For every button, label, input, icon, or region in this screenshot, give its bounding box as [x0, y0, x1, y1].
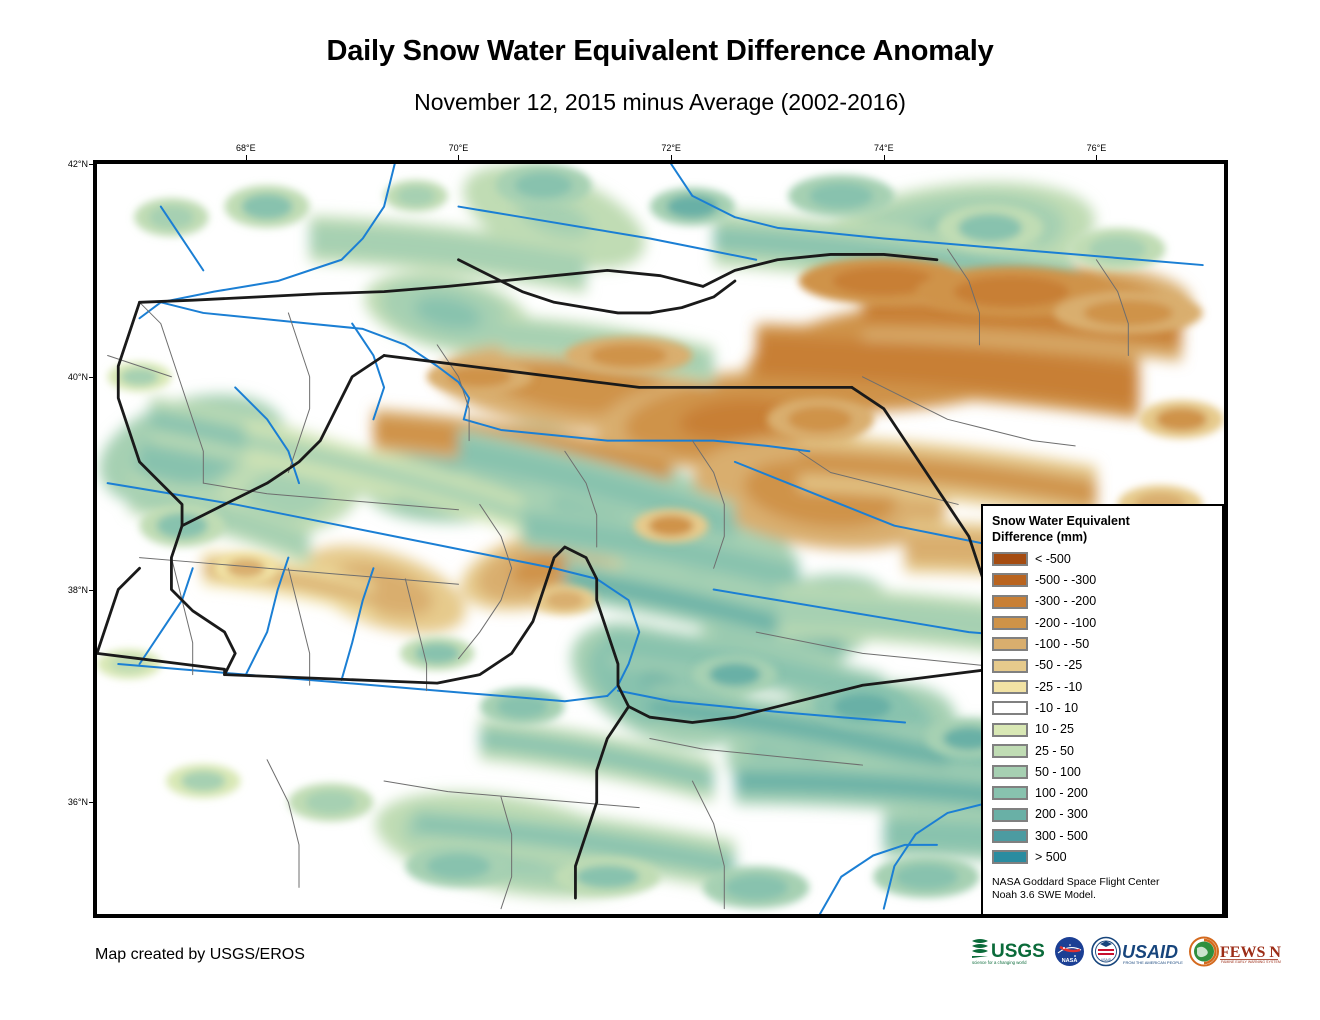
legend-swatch: [992, 637, 1028, 651]
logo-bar: USGS science for a changing world NASA U…: [970, 933, 1281, 969]
usaid-logo: USAID USAID FROM THE AMERICAN PEOPLE: [1091, 935, 1183, 967]
legend-swatch: [992, 616, 1028, 630]
anomaly-patch: [1084, 300, 1173, 326]
legend-label: 10 - 25: [1035, 723, 1074, 736]
legend-label: -50 - -25: [1035, 659, 1082, 672]
legend-label: 300 - 500: [1035, 830, 1088, 843]
nasa-logo: NASA: [1054, 935, 1085, 967]
svg-text:FAMINE EARLY WARNING SYSTEMS N: FAMINE EARLY WARNING SYSTEMS NETWORK: [1221, 960, 1281, 964]
anomaly-patch: [515, 173, 572, 199]
legend-title: Snow Water Equivalent Difference (mm): [992, 514, 1192, 546]
anomaly-patch: [575, 865, 639, 888]
lon-tick-label-2: 72°E: [661, 143, 681, 153]
anomaly-patch: [788, 407, 852, 433]
lon-tick-label-1: 70°E: [449, 143, 469, 153]
legend-row: -100 - -50: [992, 634, 1222, 655]
svg-text:USAID: USAID: [1101, 958, 1112, 962]
legend-source-line1: NASA Goddard Space Flight Center: [992, 876, 1160, 888]
legend-row: -500 - -300: [992, 570, 1222, 591]
map-frame[interactable]: Snow Water Equivalent Difference (mm) < …: [93, 160, 1228, 918]
legend-swatch: [992, 680, 1028, 694]
legend-label: -100 - -50: [1035, 638, 1089, 651]
lon-tick-label-3: 74°E: [874, 143, 894, 153]
legend-swatch: [992, 786, 1028, 800]
anomaly-patch: [415, 643, 460, 663]
legend-swatch: [992, 744, 1028, 758]
legend-row: > 500: [992, 847, 1222, 868]
legend-swatch: [992, 552, 1028, 566]
map-credit: Map created by USGS/EROS: [95, 946, 305, 964]
legend-row: 200 - 300: [992, 804, 1222, 825]
legend-swatch: [992, 659, 1028, 673]
title-block: Daily Snow Water Equivalent Difference A…: [0, 0, 1320, 115]
legend-box: Snow Water Equivalent Difference (mm) < …: [981, 504, 1224, 916]
svg-text:USAID: USAID: [1122, 942, 1178, 962]
page-subtitle: November 12, 2015 minus Average (2002-20…: [0, 68, 1320, 115]
legend-swatch: [992, 573, 1028, 587]
anomaly-patch: [954, 276, 1069, 307]
legend-row: -300 - -200: [992, 591, 1222, 612]
anomaly-patch: [427, 853, 491, 879]
legend-title-line1: Snow Water Equivalent: [992, 514, 1130, 528]
anomaly-patch: [590, 344, 667, 367]
anomaly-patch: [958, 214, 1022, 242]
legend-label: 25 - 50: [1035, 745, 1074, 758]
legend-row: 25 - 50: [992, 740, 1222, 761]
anomaly-patch: [1156, 408, 1207, 431]
legend-label: -10 - 10: [1035, 702, 1078, 715]
legend-swatch: [992, 701, 1028, 715]
page-title: Daily Snow Water Equivalent Difference A…: [0, 0, 1320, 68]
svg-text:NASA: NASA: [1062, 958, 1078, 964]
usgs-logo: USGS science for a changing world: [970, 935, 1048, 967]
lon-tick-label-0: 68°E: [236, 143, 256, 153]
anomaly-patch: [724, 875, 788, 901]
legend-label: -25 - -10: [1035, 681, 1082, 694]
anomaly-patch: [227, 559, 265, 578]
legend-row: 10 - 25: [992, 719, 1222, 740]
legend-row: 300 - 500: [992, 825, 1222, 846]
anomaly-patch: [709, 663, 760, 686]
legend-source-note: NASA Goddard Space Flight Center Noah 3.…: [992, 876, 1207, 902]
anomaly-patch: [649, 515, 694, 535]
legend-label: 200 - 300: [1035, 808, 1088, 821]
legend-swatch: [992, 850, 1028, 864]
anomaly-patch: [894, 864, 958, 890]
lat-tick-label-3: 36°N: [58, 797, 88, 807]
legend-row: 50 - 100: [992, 761, 1222, 782]
legend-row: -10 - 10: [992, 698, 1222, 719]
legend-row: < -500: [992, 549, 1222, 570]
legend-swatch: [992, 595, 1028, 609]
anomaly-patch: [242, 194, 293, 220]
legend-label: < -500: [1035, 553, 1071, 566]
legend-class-list: < -500-500 - -300-300 - -200-200 - -100-…: [992, 549, 1222, 868]
legend-label: -500 - -300: [1035, 574, 1096, 587]
legend-label: > 500: [1035, 851, 1067, 864]
legend-source-line2: Noah 3.6 SWE Model.: [992, 889, 1096, 901]
legend-swatch: [992, 765, 1028, 779]
legend-swatch: [992, 808, 1028, 822]
anomaly-patch: [305, 791, 356, 814]
svg-text:FEWS NET: FEWS NET: [1220, 944, 1281, 961]
legend-title-line2: Difference (mm): [992, 530, 1087, 544]
fewsnet-logo: FEWS NET FAMINE EARLY WARNING SYSTEMS NE…: [1189, 935, 1281, 967]
legend-label: 100 - 200: [1035, 787, 1088, 800]
lat-tick-label-2: 38°N: [58, 585, 88, 595]
anomaly-patch: [834, 694, 891, 720]
svg-text:science for a changing world: science for a changing world: [972, 960, 1027, 965]
lat-tick-label-1: 40°N: [58, 372, 88, 382]
anomaly-patch: [667, 195, 718, 218]
legend-label: -200 - -100: [1035, 617, 1096, 630]
legend-swatch: [992, 723, 1028, 737]
anomaly-patch: [397, 186, 435, 205]
legend-row: -25 - -10: [992, 676, 1222, 697]
legend-row: 100 - 200: [992, 783, 1222, 804]
anomaly-patch: [546, 591, 584, 609]
legend-swatch: [992, 829, 1028, 843]
lon-tick-label-4: 76°E: [1087, 143, 1107, 153]
legend-label: 50 - 100: [1035, 766, 1081, 779]
anomaly-patch: [809, 183, 873, 209]
legend-row: -200 - -100: [992, 612, 1222, 633]
lat-tick-label-0: 42°N: [58, 159, 88, 169]
legend-label: -300 - -200: [1035, 595, 1096, 608]
anomaly-patch: [149, 206, 194, 229]
svg-text:FROM THE AMERICAN PEOPLE: FROM THE AMERICAN PEOPLE: [1123, 960, 1183, 965]
legend-row: -50 - -25: [992, 655, 1222, 676]
anomaly-patch: [181, 771, 226, 791]
svg-text:USGS: USGS: [991, 941, 1045, 962]
